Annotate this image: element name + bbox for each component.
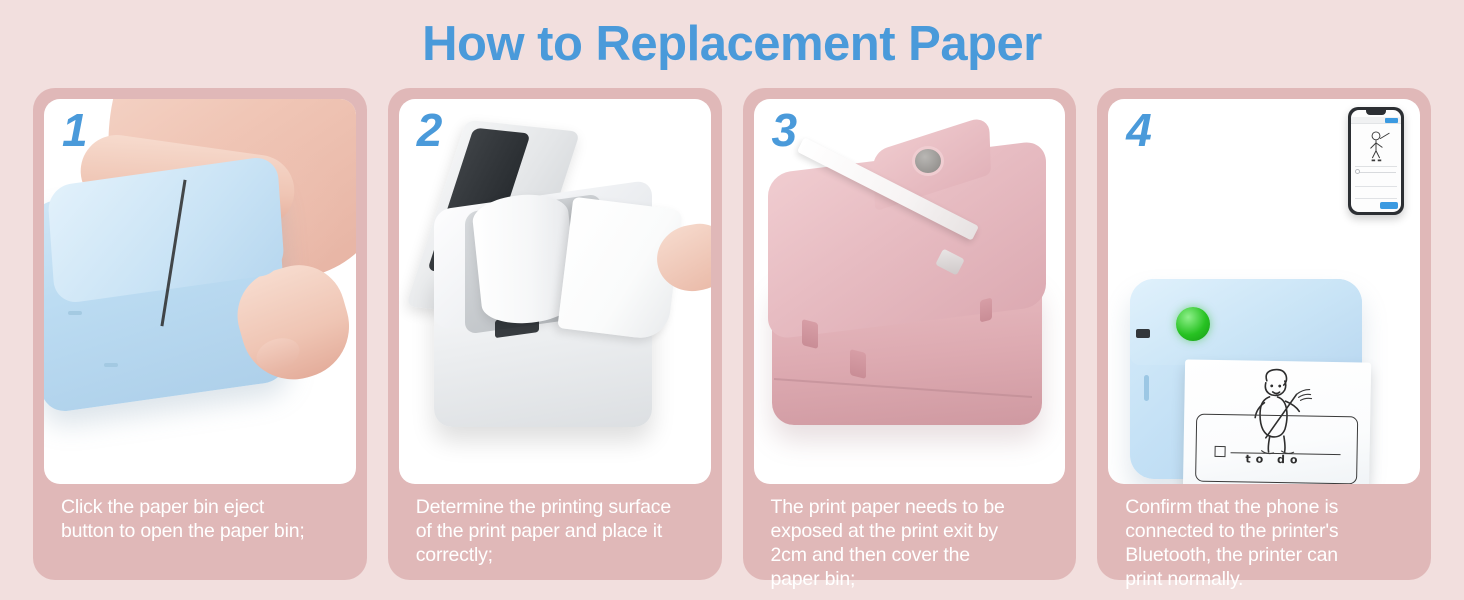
step-4-number: 4 xyxy=(1126,107,1152,153)
step-4-caption: Confirm that the phone is connected to t… xyxy=(1108,484,1420,600)
app-top-bar xyxy=(1351,117,1401,124)
scene-blue-printer-printing: to do xyxy=(1108,99,1420,484)
power-button xyxy=(1176,307,1210,341)
status-led-strip xyxy=(1144,375,1149,401)
blue-printer-top-cover xyxy=(1130,279,1362,365)
scene-hand-holding-blue-printer xyxy=(44,99,356,484)
phone-mockup xyxy=(1348,107,1404,215)
app-divider xyxy=(1355,198,1397,199)
step-2-caption: Determine the printing surface of the pr… xyxy=(399,484,711,580)
step-3-caption: The print paper needs to be exposed at t… xyxy=(754,484,1066,600)
printer-vent-slot xyxy=(68,311,82,315)
step-card-1: 1 Click the paper bin eject button to op… xyxy=(33,88,367,580)
printer-vent-slot xyxy=(104,363,118,367)
step-3-number: 3 xyxy=(772,107,798,153)
step-2-number: 2 xyxy=(417,107,443,153)
printed-label-frame xyxy=(1195,414,1358,484)
printer-vent-slot xyxy=(850,349,866,379)
app-slider-track xyxy=(1356,172,1396,173)
printed-paper-label: to do xyxy=(1183,359,1371,484)
app-image-preview xyxy=(1355,125,1397,167)
page-title: How to Replacement Paper xyxy=(0,16,1464,72)
step-card-4: 4 xyxy=(1097,88,1431,580)
step-2-photo: 2 xyxy=(399,99,711,484)
poster-root: How to Replacement Paper 1 Click the pap xyxy=(0,0,1464,600)
usb-charging-port xyxy=(1136,329,1150,338)
step-1-number: 1 xyxy=(62,107,88,153)
preview-sketch-icon xyxy=(1355,125,1397,166)
phone-screen xyxy=(1351,110,1401,212)
step-card-3: 3 The print paper needs to be exposed at… xyxy=(743,88,1077,580)
power-button xyxy=(912,146,944,176)
printed-checkbox xyxy=(1215,446,1226,457)
step-1-caption: Click the paper bin eject button to open… xyxy=(44,484,356,580)
step-card-2: 2 Determine the printing surface of the … xyxy=(388,88,722,580)
app-divider xyxy=(1355,186,1397,187)
step-3-photo: 3 xyxy=(754,99,1066,484)
scene-open-white-printer xyxy=(399,99,711,484)
scene-pink-printer xyxy=(754,99,1066,484)
printed-write-line xyxy=(1231,452,1341,455)
step-4-photo: 4 xyxy=(1108,99,1420,484)
app-slider-handle xyxy=(1355,169,1360,174)
printer-vent-slot xyxy=(980,298,992,323)
step-1-photo: 1 xyxy=(44,99,356,484)
phone-notch xyxy=(1366,110,1386,115)
steps-row: 1 Click the paper bin eject button to op… xyxy=(33,88,1431,580)
app-print-button xyxy=(1380,202,1398,209)
printer-vent-slot xyxy=(802,319,818,349)
